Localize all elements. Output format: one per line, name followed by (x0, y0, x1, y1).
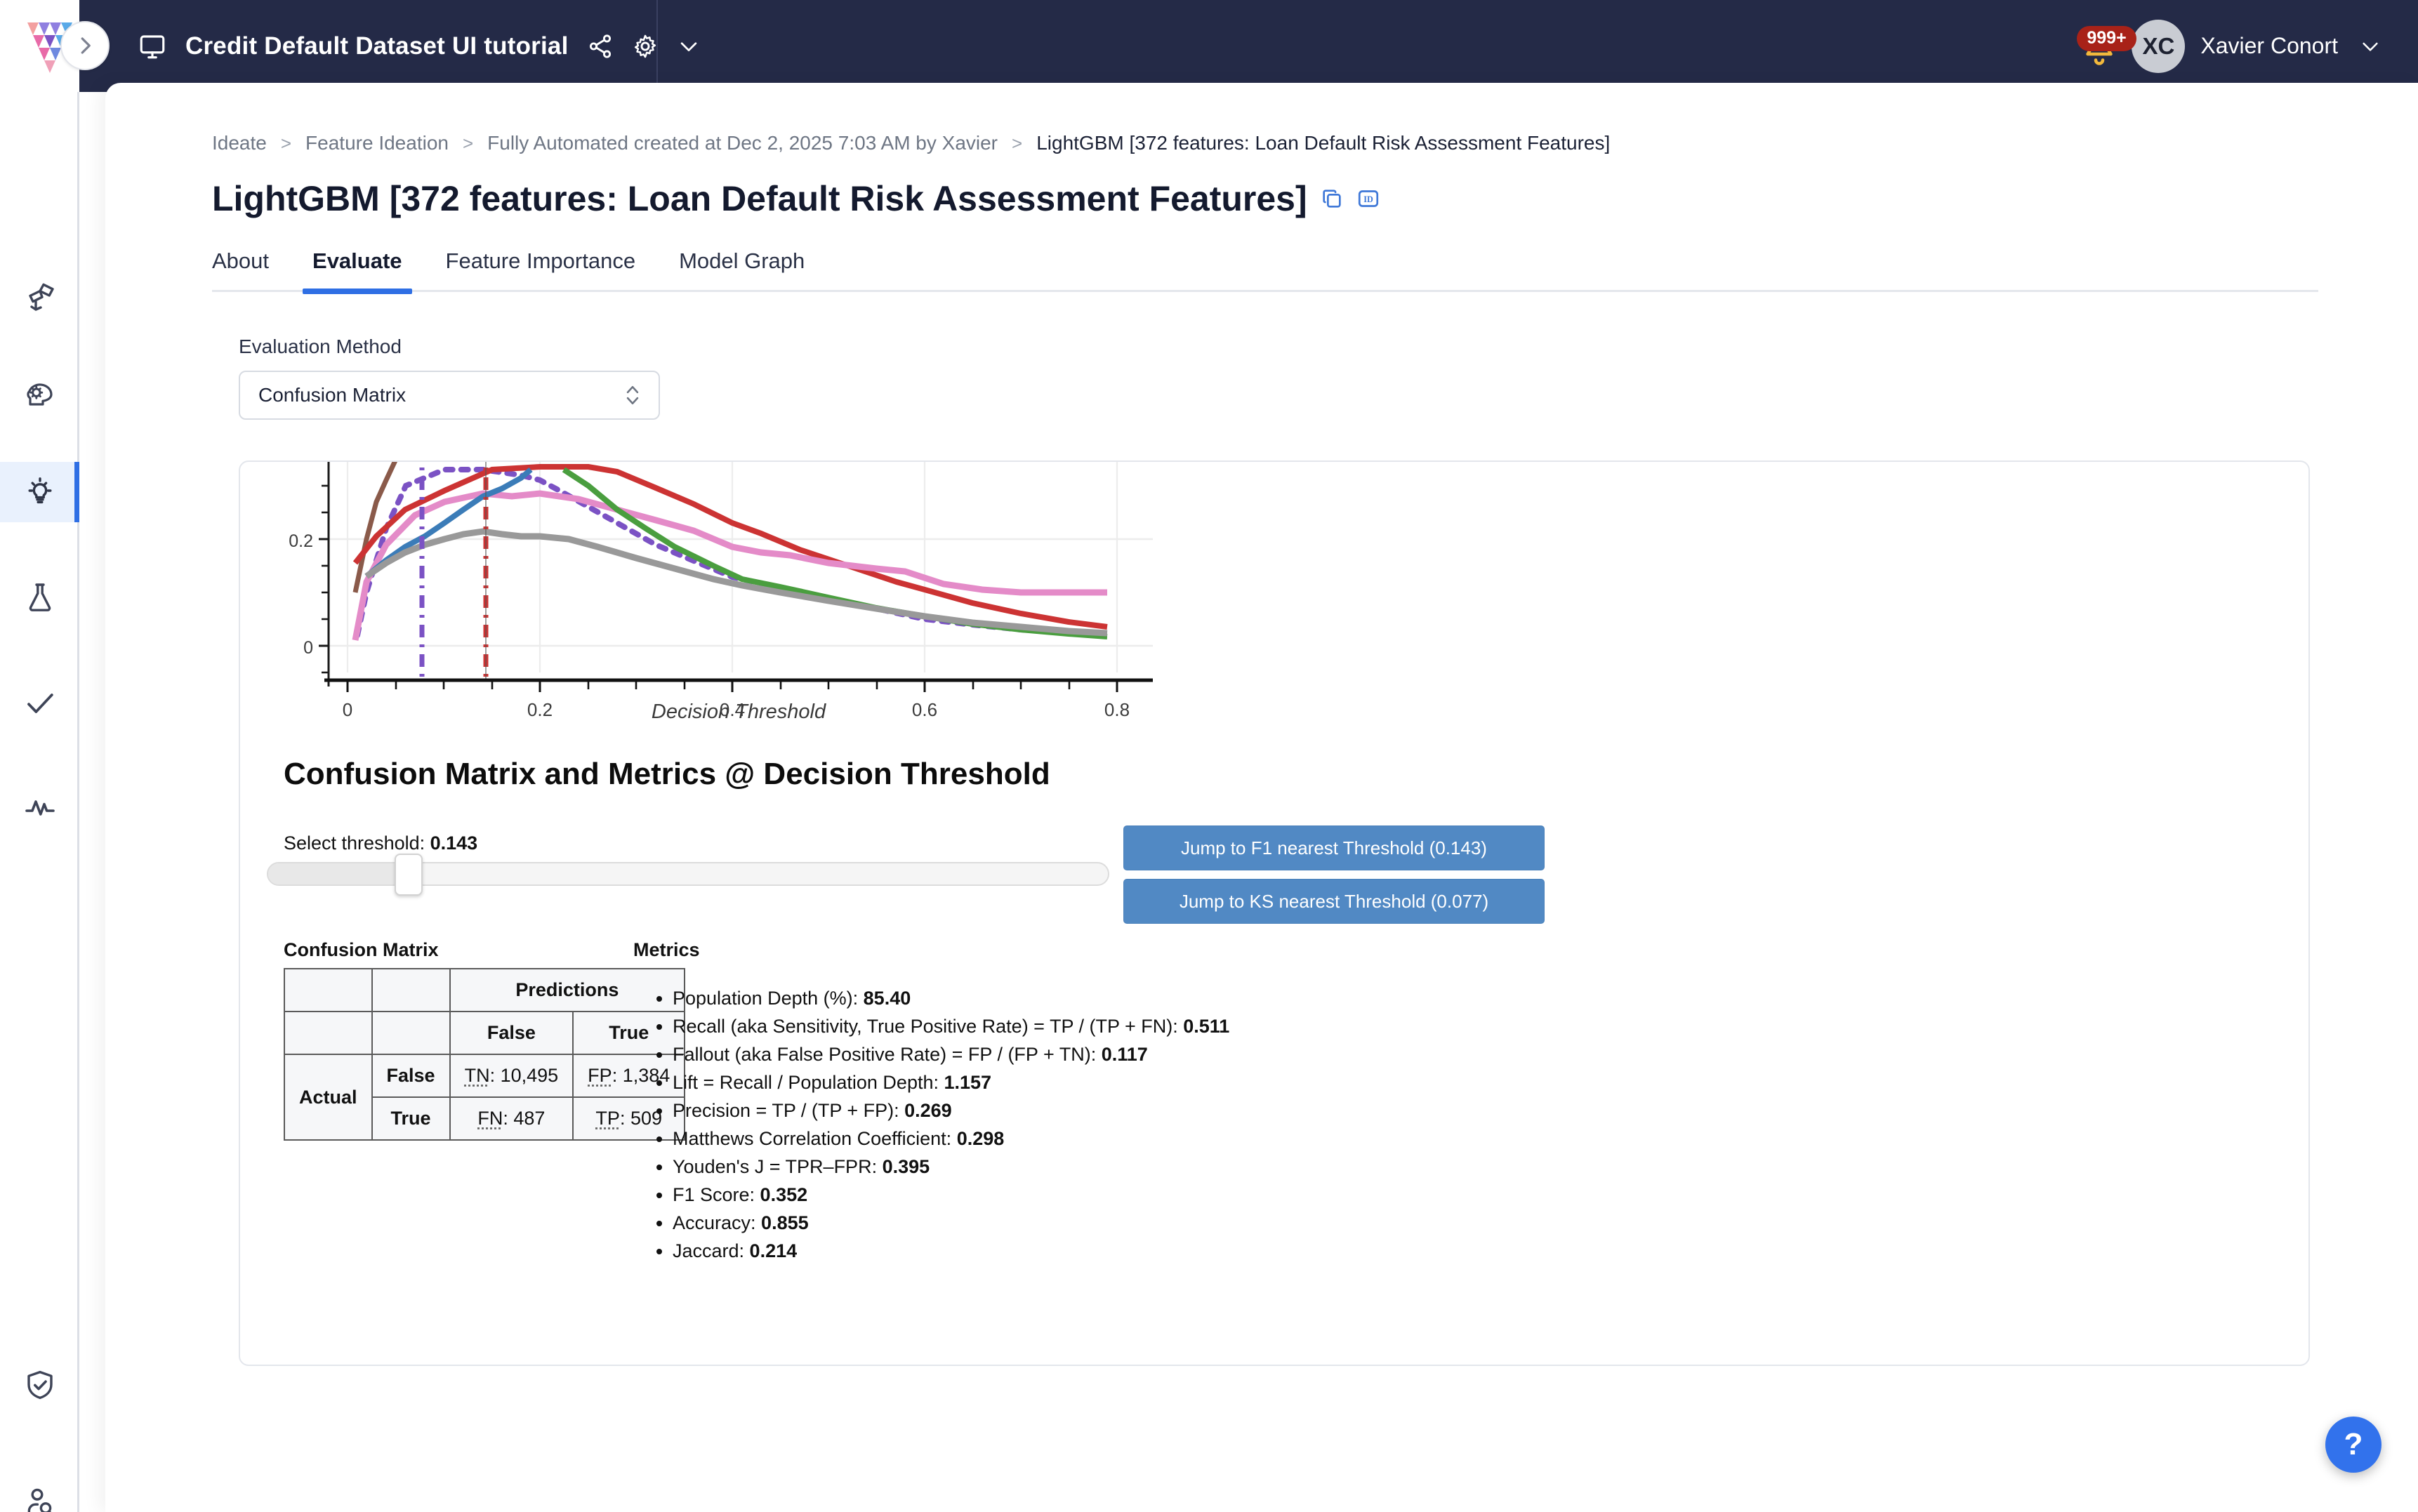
cm-actual-true-header: True (372, 1097, 450, 1140)
breadcrumb-separator: > (463, 133, 473, 154)
sidebar-item-experiment[interactable] (0, 567, 79, 628)
jump-to-ks-button[interactable]: Jump to KS nearest Threshold (0.077) (1123, 879, 1545, 924)
svg-text:0: 0 (303, 638, 313, 658)
up-down-chevron-icon (625, 382, 640, 409)
chart-y-axis: 0.2 0 (289, 462, 329, 687)
sidebar-item-validate[interactable] (0, 673, 79, 734)
confusion-matrix-block: Confusion Matrix Predictions False True (284, 939, 685, 1141)
metric-value: 0.511 (1183, 1016, 1229, 1037)
sidebar-item-brain[interactable] (0, 364, 79, 425)
threshold-label: Select threshold: 0.143 (284, 833, 477, 854)
tab-about[interactable]: About (212, 248, 269, 292)
breadcrumb-item-3: LightGBM [372 features: Loan Default Ris… (1036, 132, 1610, 154)
evaluation-method-value: Confusion Matrix (258, 384, 406, 406)
list-item: Precision = TP / (TP + FP): 0.269 (673, 1099, 1757, 1122)
tab-feature-importance[interactable]: Feature Importance (446, 248, 636, 292)
notification-badge: 999+ (2077, 26, 2136, 51)
table-row: False True (284, 1012, 685, 1054)
brain-gear-icon (23, 378, 57, 411)
pulse-icon (23, 790, 57, 824)
metric-value: 85.40 (864, 988, 911, 1009)
list-item: Recall (aka Sensitivity, True Positive R… (673, 1014, 1757, 1038)
svg-text:ID: ID (1363, 194, 1373, 204)
list-item: Population Depth (%): 85.40 (673, 986, 1757, 1010)
user-name: Xavier Conort (2200, 33, 2338, 59)
section-heading: Confusion Matrix and Metrics @ Decision … (284, 757, 1050, 792)
slider-fill (268, 863, 406, 884)
topbar-project-group: Credit Default Dataset UI tutorial (138, 0, 701, 92)
metric-value: 0.352 (760, 1184, 808, 1205)
sidebar-item-explore[interactable] (0, 267, 79, 327)
share-icon[interactable] (587, 33, 614, 60)
metric-label: Precision = TP / (TP + FP): (673, 1100, 904, 1121)
topbar-user-group: 999+ XC Xavier Conort (2074, 0, 2381, 92)
metric-value: 0.269 (904, 1100, 952, 1121)
cm-blank-cell (372, 1012, 450, 1054)
metrics-title: Metrics (633, 939, 1757, 961)
fn-value: : 487 (503, 1108, 545, 1129)
svg-text:0.2: 0.2 (289, 531, 313, 551)
cm-blank-cell (284, 1012, 372, 1054)
evaluation-method-select[interactable]: Confusion Matrix (239, 371, 660, 420)
threshold-value: 0.143 (430, 833, 478, 854)
chevron-down-icon[interactable] (677, 34, 701, 58)
list-item: Matthews Correlation Coefficient: 0.298 (673, 1127, 1757, 1150)
threshold-metrics-chart: 0.2 0 (240, 462, 1293, 729)
metric-label: Youden's J = TPR–FPR: (673, 1156, 883, 1177)
metric-value: 0.214 (750, 1240, 798, 1261)
chart-gridlines (329, 462, 1153, 672)
tn-value: : 10,495 (490, 1065, 559, 1086)
copy-icon[interactable] (1320, 187, 1344, 211)
telescope-icon (23, 280, 57, 314)
evaluation-panel: 0.2 0 (239, 460, 2310, 1366)
table-row: Predictions (284, 969, 685, 1012)
monitor-icon (138, 32, 167, 61)
chevron-right-icon (74, 35, 95, 56)
user-search-icon (23, 1485, 57, 1512)
sidebar-item-ideate[interactable] (0, 462, 79, 522)
evaluation-method-label: Evaluation Method (239, 336, 2418, 358)
tab-evaluate[interactable]: Evaluate (312, 248, 402, 292)
metric-label: Recall (aka Sensitivity, True Positive R… (673, 1016, 1183, 1037)
breadcrumb: Ideate > Feature Ideation > Fully Automa… (105, 132, 2418, 154)
breadcrumb-item-1[interactable]: Feature Ideation (305, 132, 449, 154)
metric-label: Matthews Correlation Coefficient: (673, 1128, 957, 1149)
metric-value: 0.117 (1102, 1044, 1148, 1065)
evaluation-method-group: Evaluation Method Confusion Matrix (105, 336, 2418, 420)
main-content-card: Ideate > Feature Ideation > Fully Automa… (105, 83, 2418, 1512)
list-item: F1 Score: 0.352 (673, 1183, 1757, 1207)
flask-icon (23, 581, 57, 614)
breadcrumb-separator: > (1012, 133, 1022, 154)
sidebar-item-user-search[interactable] (0, 1472, 79, 1512)
metric-label: Lift = Recall / Population Depth: (673, 1072, 944, 1093)
app-root: Credit Default Dataset UI tutorial 999+ (0, 0, 2418, 1512)
tab-bar: About Evaluate Feature Importance Model … (105, 248, 2418, 292)
user-menu-chevron-down-icon[interactable] (2359, 35, 2381, 58)
breadcrumb-item-0[interactable]: Ideate (212, 132, 267, 154)
page-title-row: LightGBM [372 features: Loan Default Ris… (105, 178, 2418, 219)
avatar[interactable]: XC (2132, 20, 2185, 73)
breadcrumb-item-2[interactable]: Fully Automated created at Dec 2, 2025 7… (487, 132, 998, 154)
metric-label: Accuracy: (673, 1212, 761, 1233)
cm-pred-false-header: False (450, 1012, 574, 1054)
sidebar-collapse-button[interactable] (60, 21, 110, 70)
breadcrumb-separator: > (281, 133, 291, 154)
tab-model-graph[interactable]: Model Graph (679, 248, 805, 292)
metric-value: 0.298 (957, 1128, 1005, 1149)
metric-label: Fallout (aka False Positive Rate) = FP /… (673, 1044, 1102, 1065)
sidebar-item-monitor[interactable] (0, 777, 79, 837)
top-bar: Credit Default Dataset UI tutorial 999+ (0, 0, 2418, 92)
sidebar-item-security[interactable] (0, 1355, 79, 1415)
page-title: LightGBM [372 features: Loan Default Ris… (212, 178, 1307, 219)
list-item: Jaccard: 0.214 (673, 1239, 1757, 1263)
fp-abbr: FP (588, 1065, 612, 1086)
metric-label: Population Depth (%): (673, 988, 864, 1009)
metric-value: 1.157 (944, 1072, 991, 1093)
cm-actual-false-header: False (372, 1054, 450, 1097)
confusion-matrix-table: Predictions False True Actual False TN: … (284, 968, 685, 1141)
list-item: Accuracy: 0.855 (673, 1211, 1757, 1235)
list-item: Youden's J = TPR–FPR: 0.395 (673, 1155, 1757, 1179)
table-row: Actual False TN: 10,495 FP: 1,384 (284, 1054, 685, 1097)
left-nav-rail (0, 92, 79, 1512)
id-badge-icon[interactable]: ID (1356, 187, 1380, 211)
metrics-block: Metrics Population Depth (%): 85.40 Reca… (633, 939, 1757, 1267)
metric-label: Jaccard: (673, 1240, 750, 1261)
gear-icon[interactable] (632, 33, 659, 60)
project-title: Credit Default Dataset UI tutorial (185, 32, 569, 60)
metric-value: 0.395 (883, 1156, 930, 1177)
threshold-label-prefix: Select threshold: (284, 833, 430, 854)
chart-x-axis-label: Decision Threshold (240, 701, 1237, 724)
cm-cell-false-negative: FN: 487 (450, 1097, 574, 1140)
check-icon (23, 687, 57, 720)
tp-abbr: TP (595, 1108, 620, 1129)
series-pink (355, 493, 1107, 640)
notifications-button[interactable]: 999+ (2074, 22, 2123, 71)
cm-blank-cell (284, 969, 372, 1012)
cm-cell-true-negative: TN: 10,495 (450, 1054, 574, 1097)
slider-knob[interactable] (395, 854, 423, 896)
metric-value: 0.855 (761, 1212, 809, 1233)
cm-blank-cell (372, 969, 450, 1012)
metrics-list: Population Depth (%): 85.40 Recall (aka … (633, 986, 1757, 1263)
fn-abbr: FN (477, 1108, 503, 1129)
cm-actual-header: Actual (284, 1054, 372, 1140)
jump-to-f1-button[interactable]: Jump to F1 nearest Threshold (0.143) (1123, 825, 1545, 870)
shield-check-icon (23, 1368, 57, 1402)
help-button[interactable]: ? (2325, 1417, 2381, 1473)
confusion-matrix-title: Confusion Matrix (284, 939, 685, 961)
list-item: Fallout (aka False Positive Rate) = FP /… (673, 1042, 1757, 1066)
lightbulb-icon (23, 475, 57, 509)
threshold-slider[interactable] (267, 862, 1109, 886)
chart-svg: 0.2 0 (240, 462, 1293, 729)
list-item: Lift = Recall / Population Depth: 1.157 (673, 1070, 1757, 1094)
tn-abbr: TN (465, 1065, 490, 1086)
metric-label: F1 Score: (673, 1184, 760, 1205)
